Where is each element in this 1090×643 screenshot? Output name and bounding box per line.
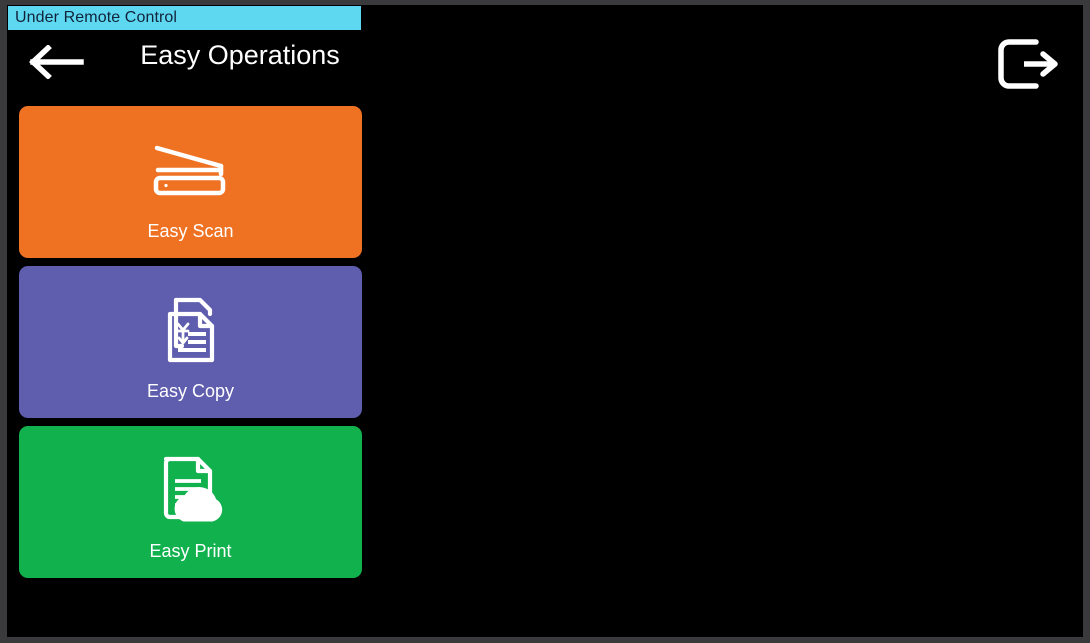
- tile-label-easy-copy: Easy Copy: [19, 380, 362, 402]
- tile-easy-print[interactable]: Easy Print: [19, 426, 362, 578]
- page-title: Easy Operations: [111, 38, 369, 72]
- logout-icon: [996, 36, 1062, 92]
- logout-button[interactable]: [993, 34, 1065, 94]
- tile-easy-copy[interactable]: Easy Copy: [19, 266, 362, 418]
- cloud-print-icon: [19, 452, 362, 528]
- scanner-icon: [19, 132, 362, 208]
- tile-easy-scan[interactable]: Easy Scan: [19, 106, 362, 258]
- device-frame: Under Remote Control Easy Operations: [0, 0, 1090, 643]
- touch-screen: Under Remote Control Easy Operations: [7, 5, 1083, 637]
- tile-label-easy-scan: Easy Scan: [19, 220, 362, 242]
- status-banner-text: Under Remote Control: [15, 10, 177, 26]
- copy-documents-icon: [19, 292, 362, 368]
- status-banner-remote-control: Under Remote Control: [8, 6, 361, 30]
- arrow-left-icon: [28, 45, 84, 79]
- back-button[interactable]: [21, 40, 91, 84]
- tile-label-easy-print: Easy Print: [19, 540, 362, 562]
- header-bar: Easy Operations: [7, 30, 1083, 92]
- easy-operations-tile-list: Easy Scan: [19, 106, 362, 586]
